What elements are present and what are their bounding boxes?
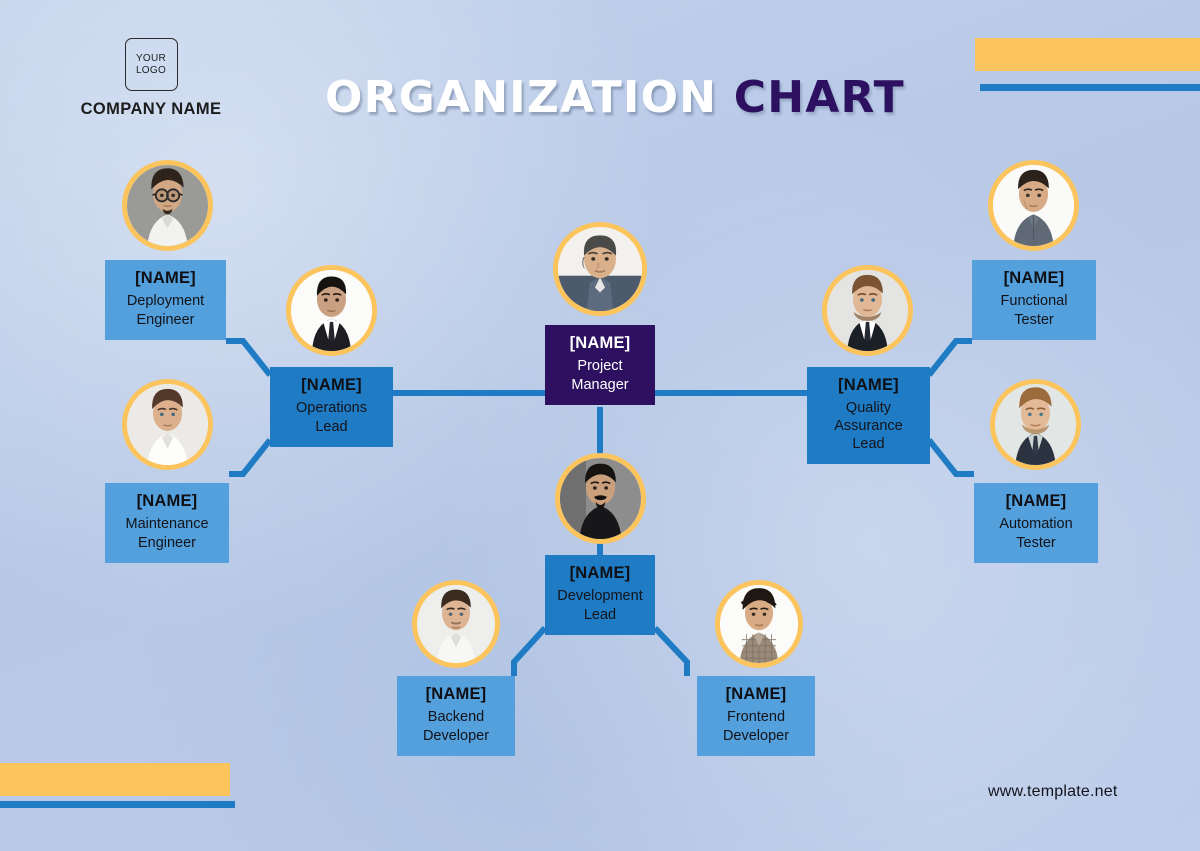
card-functional-tester[interactable]: [NAME] Functional Tester — [972, 260, 1096, 340]
org-chart-canvas: YOUR LOGO COMPANY NAME ORGANIZATION CHAR… — [0, 0, 1200, 851]
card-role-line-2: Engineer — [111, 535, 223, 552]
avatar-maintenance-engineer — [122, 379, 213, 470]
card-development-lead[interactable]: [NAME] Development Lead — [545, 555, 655, 635]
card-name: [NAME] — [980, 492, 1092, 511]
card-role-line-1: Maintenance — [111, 516, 223, 533]
card-role-line-2: Engineer — [111, 312, 220, 329]
edge-development-backend — [514, 628, 545, 676]
card-role-line-1: Quality Assurance — [813, 400, 924, 434]
card-role-line-2: Developer — [703, 728, 809, 745]
edge-operations-maintenance — [229, 440, 270, 474]
avatar-frontend-developer — [715, 580, 803, 668]
card-role-line-2: Developer — [403, 728, 509, 745]
card-name: [NAME] — [111, 492, 223, 511]
avatar-backend-developer — [412, 580, 500, 668]
card-role-line-1: Operations — [276, 400, 387, 417]
card-name: [NAME] — [276, 376, 387, 395]
card-deployment-engineer[interactable]: [NAME] Deployment Engineer — [105, 260, 226, 340]
edge-qa-automation — [929, 440, 974, 474]
card-role-line-2: Lead — [276, 419, 387, 436]
card-role-line-2: Tester — [980, 535, 1092, 552]
card-name: [NAME] — [551, 564, 649, 583]
card-role-line-2: Lead — [813, 436, 924, 453]
card-operations-lead[interactable]: [NAME] Operations Lead — [270, 367, 393, 447]
card-frontend-developer[interactable]: [NAME] Frontend Developer — [697, 676, 815, 756]
card-role-line-1: Automation — [980, 516, 1092, 533]
avatar-functional-tester — [988, 160, 1079, 251]
card-automation-tester[interactable]: [NAME] Automation Tester — [974, 483, 1098, 563]
card-role-line-1: Project — [551, 358, 649, 375]
edge-operations-deployment — [226, 341, 270, 375]
card-name: [NAME] — [403, 685, 509, 704]
card-name: [NAME] — [111, 269, 220, 288]
card-role-line-2: Lead — [551, 607, 649, 624]
card-role-line-1: Deployment — [111, 293, 220, 310]
card-name: [NAME] — [813, 376, 924, 395]
avatar-automation-tester — [990, 379, 1081, 470]
card-role-line-2: Tester — [978, 312, 1090, 329]
card-name: [NAME] — [551, 334, 649, 353]
card-role-line-1: Frontend — [703, 709, 809, 726]
card-role-line-2: Manager — [551, 377, 649, 394]
avatar-deployment-engineer — [122, 160, 213, 251]
card-role-line-1: Development — [551, 588, 649, 605]
card-name: [NAME] — [978, 269, 1090, 288]
avatar-development-lead — [555, 453, 646, 544]
avatar-operations-lead — [286, 265, 377, 356]
card-role-line-1: Backend — [403, 709, 509, 726]
edge-development-frontend — [655, 628, 687, 676]
card-project-manager[interactable]: [NAME] Project Manager — [545, 325, 655, 405]
card-quality-assurance-lead[interactable]: [NAME] Quality Assurance Lead — [807, 367, 930, 464]
edge-qa-functional — [929, 341, 972, 375]
card-name: [NAME] — [703, 685, 809, 704]
card-maintenance-engineer[interactable]: [NAME] Maintenance Engineer — [105, 483, 229, 563]
avatar-quality-assurance-lead — [822, 265, 913, 356]
avatar-project-manager — [553, 222, 647, 316]
card-role-line-1: Functional — [978, 293, 1090, 310]
card-backend-developer[interactable]: [NAME] Backend Developer — [397, 676, 515, 756]
